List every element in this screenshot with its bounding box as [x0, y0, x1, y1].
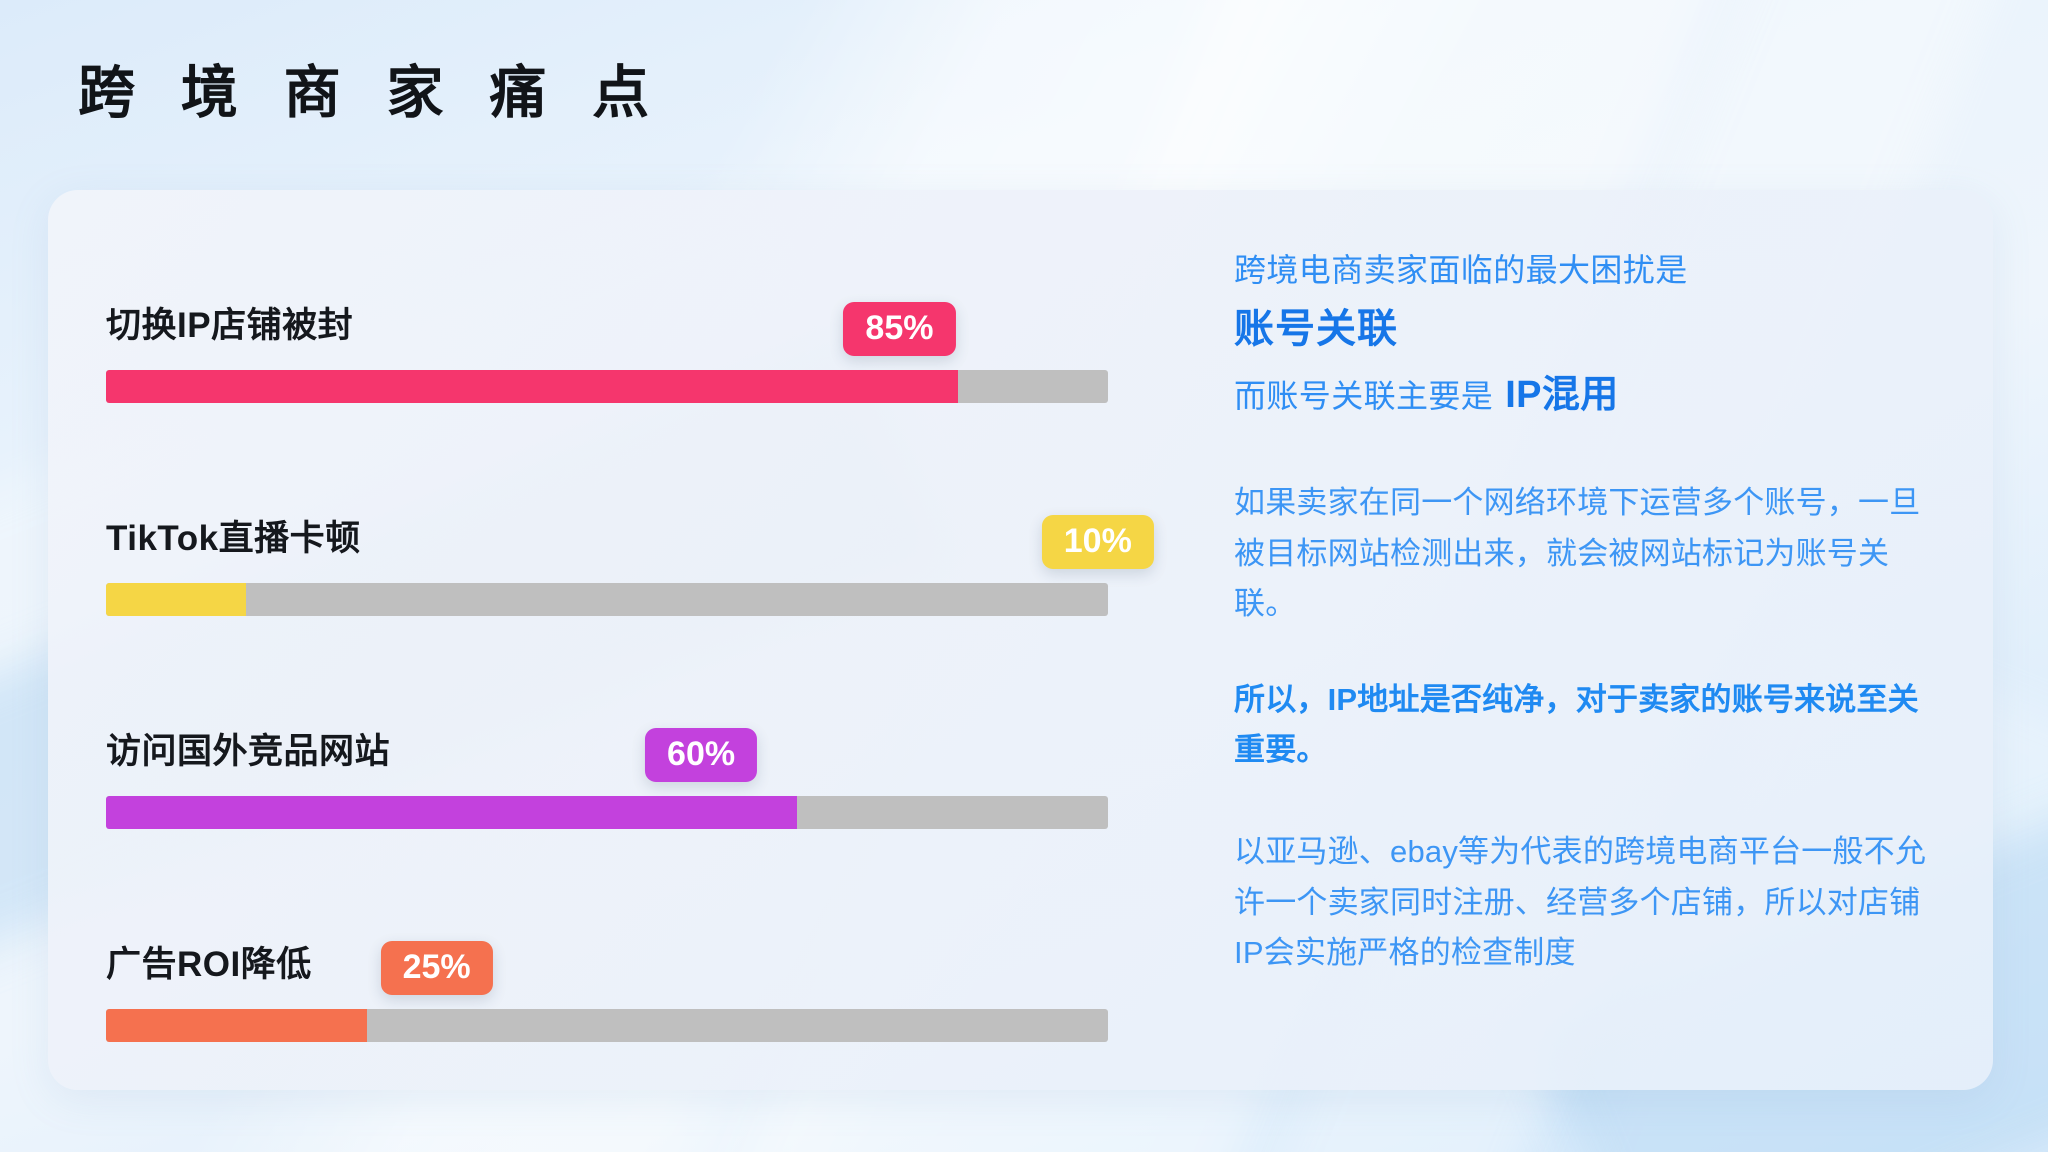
bar-label: 广告ROI降低 [106, 936, 312, 987]
bar-track [106, 1009, 1108, 1042]
slide-root: 跨 境 商 家 痛 点 切换IP店铺被封 85% TikTok直播卡顿 10% [0, 0, 2048, 1152]
bar-value-badge: 85% [843, 302, 955, 356]
description-paragraph-1: 如果卖家在同一个网络环境下运营多个账号，一旦被目标网站检测出来，就会被网站标记为… [1234, 478, 1934, 629]
bar-row: 切换IP店铺被封 85% [106, 248, 1208, 461]
description-panel: 跨境电商卖家面临的最大困扰是 账号关联 而账号关联主要是IP混用 如果卖家在同一… [1208, 190, 1993, 1090]
bar-header: 访问国外竞品网站 60% [106, 674, 1208, 796]
bar-value-badge: 10% [1042, 515, 1154, 569]
bar-label: 切换IP店铺被封 [106, 297, 353, 348]
bar-row: TikTok直播卡顿 10% [106, 461, 1208, 674]
lead-secondary-highlight: IP混用 [1505, 374, 1619, 416]
lead-keyword: 账号关联 [1234, 299, 1953, 359]
bar-fill [106, 583, 246, 616]
bar-track [106, 370, 1108, 403]
description-paragraph-2: 所以，IP地址是否纯净，对于卖家的账号来说至关重要。 [1234, 675, 1934, 775]
bar-fill [106, 370, 958, 403]
content-card: 切换IP店铺被封 85% TikTok直播卡顿 10% 访问国外竞品网站 [48, 190, 1993, 1090]
bar-fill [106, 796, 797, 829]
bar-chart-panel: 切换IP店铺被封 85% TikTok直播卡顿 10% 访问国外竞品网站 [48, 190, 1208, 1090]
lead-line: 跨境电商卖家面临的最大困扰是 [1234, 247, 1953, 293]
bar-row: 访问国外竞品网站 60% [106, 674, 1208, 887]
bar-value-badge: 25% [381, 941, 493, 995]
bar-track [106, 583, 1108, 616]
lead-secondary-prefix: 而账号关联主要是 [1234, 378, 1493, 414]
bar-header: 切换IP店铺被封 85% [106, 248, 1208, 370]
bar-fill [106, 1009, 367, 1042]
lead-secondary-line: 而账号关联主要是IP混用 [1234, 367, 1953, 424]
bar-value-badge: 60% [645, 728, 757, 782]
page-title: 跨 境 商 家 痛 点 [78, 58, 664, 129]
bar-label: 访问国外竞品网站 [106, 723, 390, 774]
bar-row: 广告ROI降低 25% [106, 887, 1208, 1100]
bar-track [106, 796, 1108, 829]
bar-header: 广告ROI降低 25% [106, 887, 1208, 1009]
bar-label: TikTok直播卡顿 [106, 510, 361, 561]
description-paragraph-3: 以亚马逊、ebay等为代表的跨境电商平台一般不允许一个卖家同时注册、经营多个店铺… [1234, 827, 1934, 978]
bar-header: TikTok直播卡顿 10% [106, 461, 1208, 583]
